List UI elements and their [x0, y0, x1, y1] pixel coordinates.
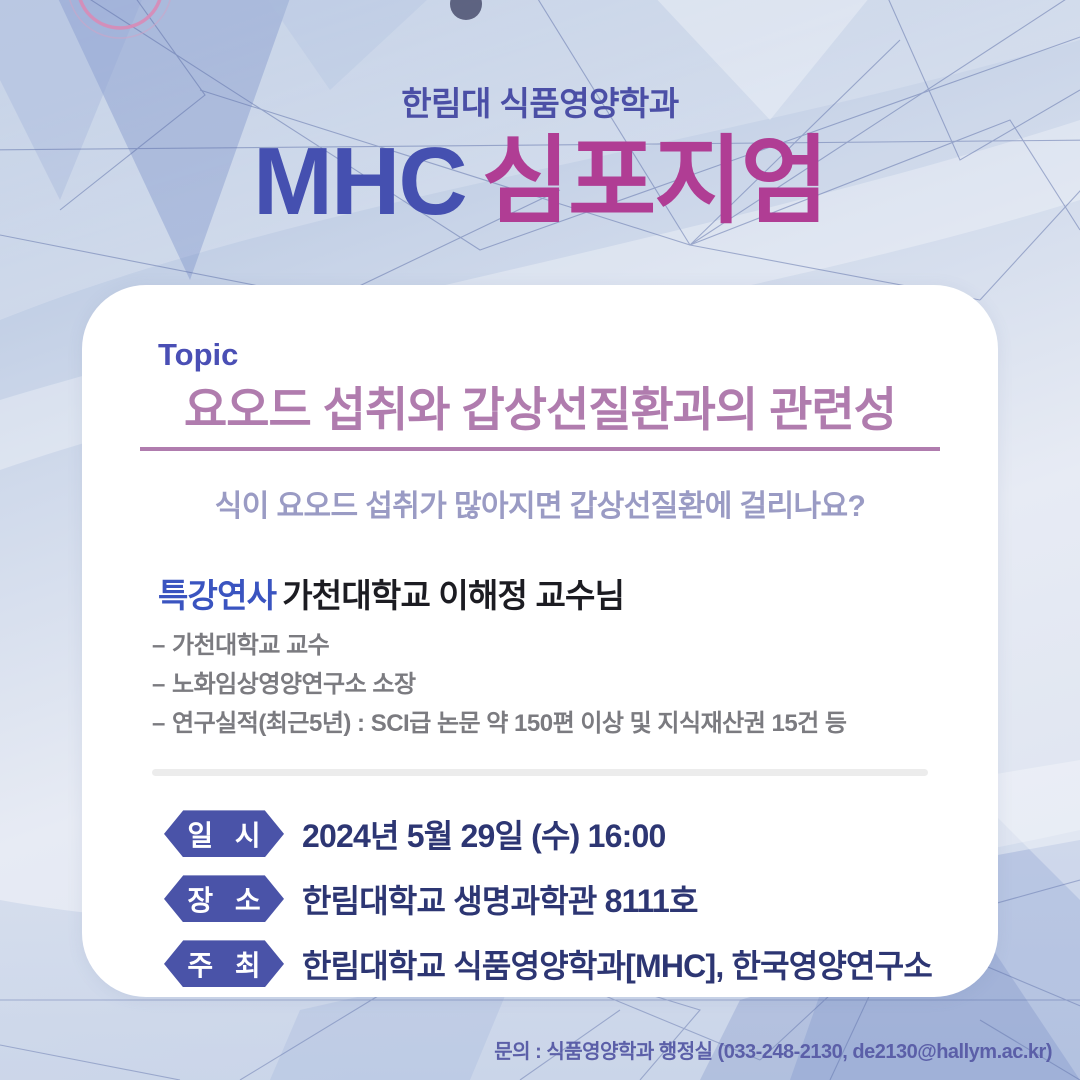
- info-row-location: 장 소 한림대학교 생명과학관 8111호: [164, 875, 940, 922]
- topic-subtitle: 식이 요오드 섭취가 많아지면 갑상선질환에 걸리나요?: [140, 481, 940, 525]
- topic-label: Topic: [158, 337, 940, 373]
- badge-location: 장 소: [164, 875, 284, 922]
- content-card: Topic 요오드 섭취와 갑상선질환과의 관련성 식이 요오드 섭취가 많아지…: [82, 285, 998, 997]
- info-row-organizer: 주 최 한림대학교 식품영양학과[MHC], 한국영양연구소: [164, 940, 940, 987]
- poster-root: 한림대 식품영양학과 MHC심포지엄 Topic 요오드 섭취와 갑상선질환과의…: [0, 0, 1080, 1080]
- info-value-location: 한림대학교 생명과학관 8111호: [302, 876, 698, 922]
- card-inner: Topic 요오드 섭취와 갑상선질환과의 관련성 식이 요오드 섭취가 많아지…: [82, 285, 998, 997]
- info-row-datetime: 일 시 2024년 5월 29일 (수) 16:00: [164, 810, 940, 857]
- title-english: MHC: [253, 128, 466, 235]
- list-item: 노화임상영양연구소 소장: [158, 666, 940, 705]
- contact-footer: 문의 : 식품영양학과 행정실 (033-248-2130, de2130@ha…: [494, 1035, 1052, 1064]
- info-value-organizer: 한림대학교 식품영양학과[MHC], 한국영양연구소: [302, 941, 932, 987]
- speaker-tag: 특강연사: [158, 577, 276, 614]
- badge-datetime: 일 시: [164, 810, 284, 857]
- section-divider: [152, 769, 928, 776]
- topic-title: 요오드 섭취와 갑상선질환과의 관련성: [140, 381, 940, 451]
- page-title: MHC심포지엄: [0, 128, 1080, 236]
- speaker-heading: 특강연사가천대학교 이해정 교수님: [158, 569, 940, 617]
- speaker-name: 가천대학교 이해정 교수님: [282, 577, 624, 614]
- list-item: 가천대학교 교수: [158, 627, 940, 666]
- event-info-list: 일 시 2024년 5월 29일 (수) 16:00 장 소 한림대학교 생명과…: [164, 810, 940, 987]
- poster-header: 한림대 식품영양학과 MHC심포지엄: [0, 84, 1080, 235]
- speaker-block: 특강연사가천대학교 이해정 교수님 가천대학교 교수 노화임상영양연구소 소장 …: [158, 569, 940, 744]
- info-value-datetime: 2024년 5월 29일 (수) 16:00: [302, 811, 665, 857]
- speaker-credentials-list: 가천대학교 교수 노화임상영양연구소 소장 연구실적(최근5년) : SCI급 …: [158, 627, 940, 744]
- list-item: 연구실적(최근5년) : SCI급 논문 약 150편 이상 및 지식재산권 1…: [158, 705, 940, 744]
- badge-organizer: 주 최: [164, 940, 284, 987]
- title-korean: 심포지엄: [482, 128, 827, 235]
- department-line: 한림대 식품영양학과: [0, 84, 1080, 124]
